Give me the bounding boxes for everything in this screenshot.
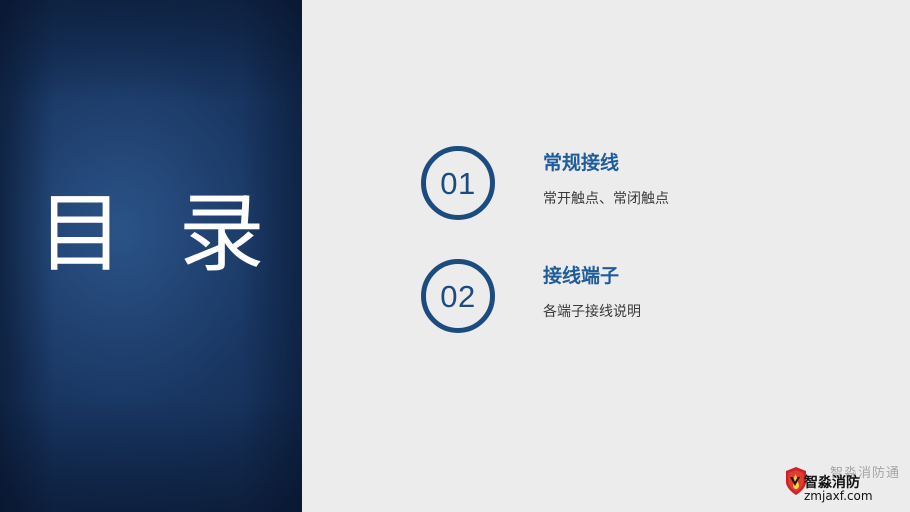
toc-number-badge-1: 01 [421, 146, 495, 220]
left-blue-panel: 目 录 [0, 0, 302, 512]
toc-subtitle-1: 常开触点、常闭触点 [543, 189, 669, 209]
watermark: 智淼消防通 智淼消防 zmjaxf.com [784, 460, 902, 506]
toc-number-1: 01 [440, 168, 475, 199]
toc-item-1[interactable]: 01 常规接线 常开触点、常闭触点 [421, 146, 669, 220]
toc-item-2[interactable]: 02 接线端子 各端子接线说明 [421, 259, 641, 333]
toc-title-1: 常规接线 [543, 150, 669, 176]
slide: 目 录 01 常规接线 常开触点、常闭触点 02 接线端子 各端子接线说明 智淼… [0, 0, 910, 512]
toc-text-block-2: 接线端子 各端子接线说明 [543, 259, 641, 322]
toc-number-badge-2: 02 [421, 259, 495, 333]
page-title: 目 录 [0, 186, 302, 282]
content-area: 01 常规接线 常开触点、常闭触点 02 接线端子 各端子接线说明 [302, 0, 910, 512]
watermark-url: zmjaxf.com [804, 489, 873, 503]
toc-text-block-1: 常规接线 常开触点、常闭触点 [543, 146, 669, 209]
toc-title-2: 接线端子 [543, 263, 641, 289]
toc-subtitle-2: 各端子接线说明 [543, 302, 641, 322]
toc-number-2: 02 [440, 281, 475, 312]
